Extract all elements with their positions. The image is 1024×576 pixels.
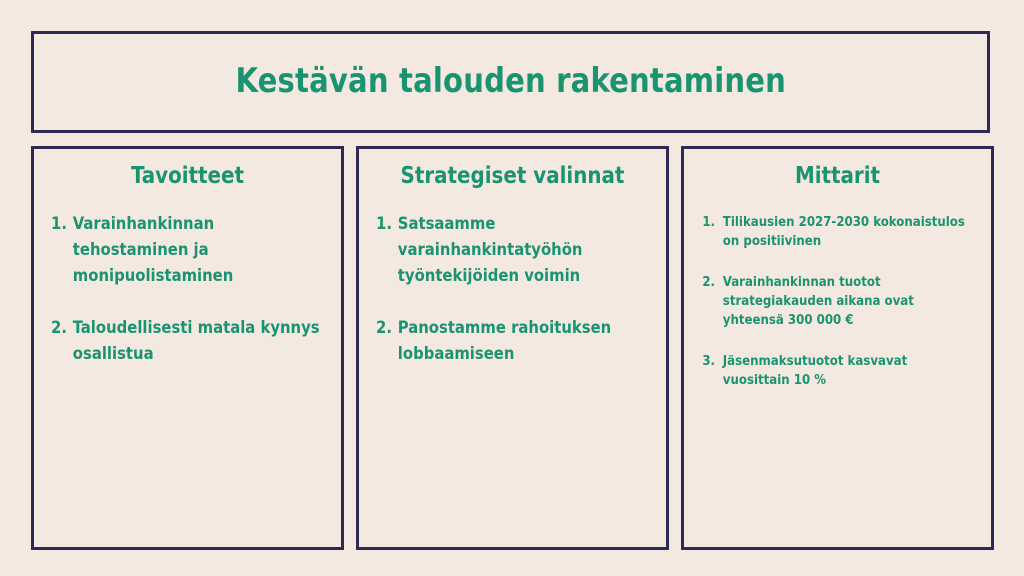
list-item-number: 1. (375, 211, 392, 289)
list-item-number: 1. (50, 211, 67, 289)
list-item-number: 2. (375, 315, 392, 367)
column-strategiset-valinnat: Strategiset valinnat 1. Satsaamme varain… (356, 146, 669, 550)
list-item: 1. Tilikausien 2027-2030 kokonaistulos o… (684, 213, 982, 251)
list-item-text: Satsaamme varainhankintatyöhön työntekij… (398, 211, 647, 289)
list-item: 2. Panostamme rahoituksen lobbaamiseen (359, 315, 657, 367)
list-item-number: 3. (700, 352, 716, 390)
column-heading: Tavoitteet (40, 163, 335, 191)
list-item-text: Panostamme rahoituksen lobbaamiseen (398, 315, 647, 367)
list-item-text: Jäsenmaksutuotot kasvavat vuosittain 10 … (723, 352, 970, 390)
page-title: Kestävän talouden rakentaminen (235, 63, 786, 100)
slide-canvas: Kestävän talouden rakentaminen Tavoittee… (0, 0, 1024, 576)
list-item-number: 1. (700, 213, 716, 251)
list-item: 3. Jäsenmaksutuotot kasvavat vuosittain … (684, 352, 982, 390)
column-tavoitteet: Tavoitteet 1. Varainhankinnan tehostamin… (31, 146, 344, 550)
column-heading: Strategiset valinnat (365, 163, 660, 191)
list-item-text: Varainhankinnan tuotot strategiakauden a… (723, 273, 970, 330)
list-item-text: Taloudellisesti matala kynnys osallistua (73, 315, 322, 367)
column-heading: Mittarit (690, 163, 985, 191)
column-list: 1. Satsaamme varainhankintatyöhön työnte… (359, 211, 666, 367)
title-box: Kestävän talouden rakentaminen (31, 31, 990, 133)
list-item-text: Varainhankinnan tehostaminen ja monipuol… (73, 211, 322, 289)
list-item-text: Tilikausien 2027-2030 kokonaistulos on p… (723, 213, 970, 251)
list-item: 2. Varainhankinnan tuotot strategiakaude… (684, 273, 982, 330)
list-item: 1. Satsaamme varainhankintatyöhön työnte… (359, 211, 657, 289)
column-mittarit: Mittarit 1. Tilikausien 2027-2030 kokona… (681, 146, 994, 550)
column-list: 1. Varainhankinnan tehostaminen ja monip… (34, 211, 341, 367)
list-item: 1. Varainhankinnan tehostaminen ja monip… (34, 211, 332, 289)
column-list: 1. Tilikausien 2027-2030 kokonaistulos o… (684, 213, 991, 390)
list-item: 2. Taloudellisesti matala kynnys osallis… (34, 315, 332, 367)
list-item-number: 2. (50, 315, 67, 367)
list-item-number: 2. (700, 273, 716, 330)
